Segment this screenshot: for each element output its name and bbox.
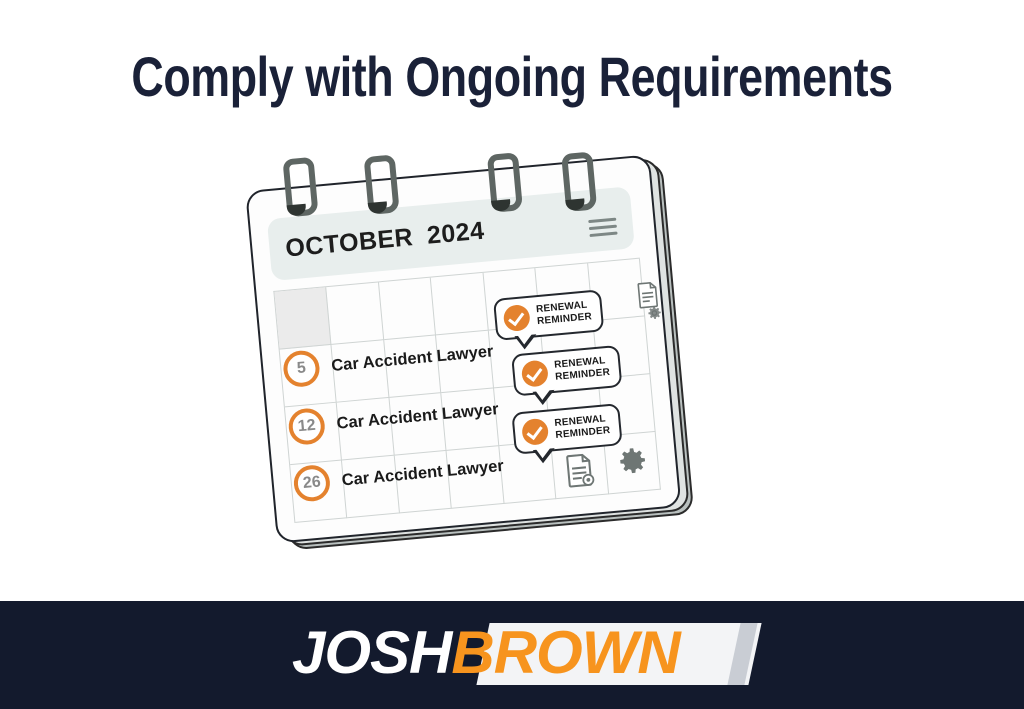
calendar-cell[interactable] [274,287,331,350]
page-title: Comply with Ongoing Requirements [102,46,921,108]
calendar-cell[interactable] [327,282,384,345]
gear-icon[interactable] [614,443,651,480]
document-icon[interactable] [564,453,595,488]
renewal-reminder-text: RENEWAL REMINDER [536,299,593,328]
calendar-month-label: OCTOBER [284,223,414,263]
calendar-year-label: 2024 [426,216,486,250]
binder-ring-icon [364,154,400,215]
hamburger-line [589,224,617,230]
logo-primary-text: JOSH [292,619,451,686]
event-label: Car Accident Lawyer [336,400,500,434]
renewal-reminder-text: RENEWAL REMINDER [554,413,611,442]
hamburger-line [588,217,616,223]
event-label: Car Accident Lawyer [331,342,495,376]
date-badge: 12 [287,407,326,446]
hamburger-icon[interactable] [588,217,617,236]
event-label: Car Accident Lawyer [341,456,505,490]
gear-icon [645,304,663,322]
binder-ring-icon [561,152,597,213]
hamburger-line [589,231,617,237]
binder-ring-icon [487,152,523,213]
logo-text: JOSHBROWN [292,621,680,685]
check-circle-icon [503,304,531,332]
binder-ring-icon [282,157,318,218]
check-circle-icon [521,359,549,387]
calendar-illustration: OCTOBER 2024 [248,150,728,570]
brand-logo[interactable]: JOSHBROWN [286,619,756,691]
date-badge: 5 [282,349,321,388]
renewal-reminder-text: RENEWAL REMINDER [554,355,611,384]
check-circle-icon [521,418,549,446]
calendar-rotated-group: OCTOBER 2024 [231,131,695,558]
calendar-cell[interactable] [431,273,488,336]
calendar-cell[interactable] [379,278,436,341]
logo-secondary-text: BROWN [451,619,679,686]
date-badge: 26 [292,464,331,503]
footer-bar: JOSHBROWN [0,601,1024,709]
